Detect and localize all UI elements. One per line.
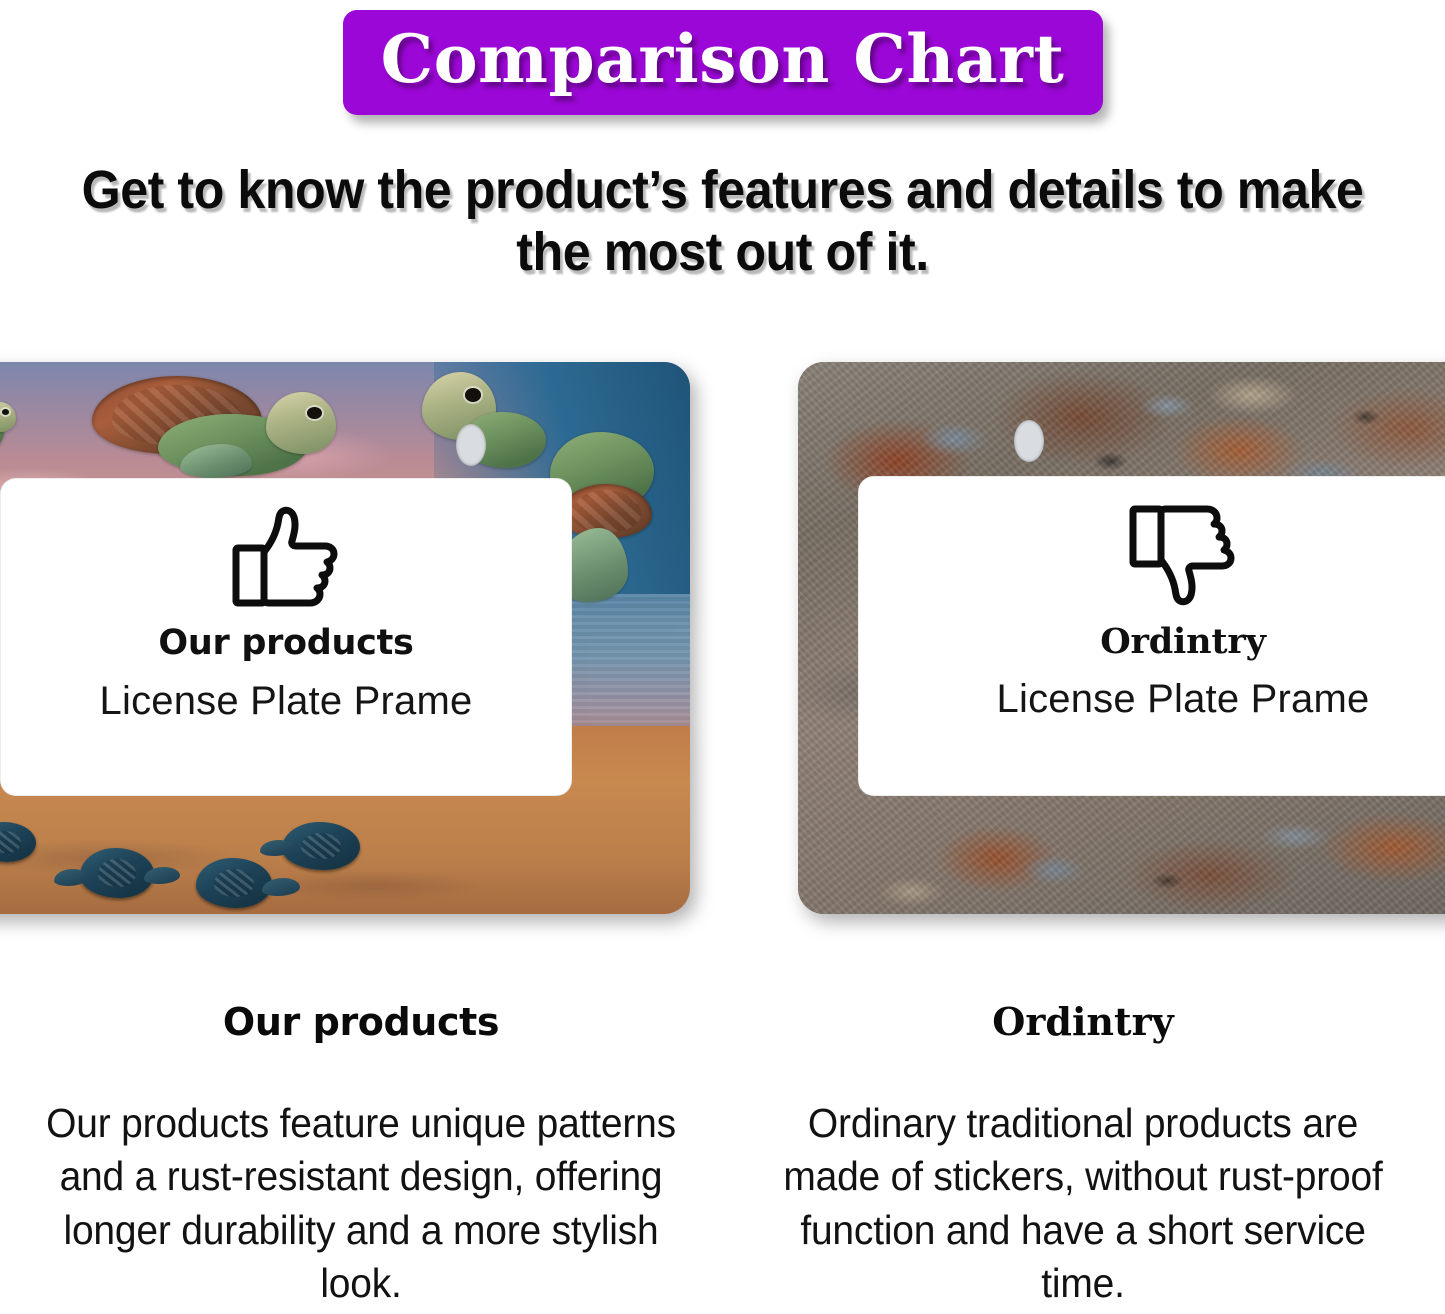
ordinary-column: Ordintry Ordinary traditional products a… [722, 975, 1444, 1314]
our-products-column: Our products Our products feature unique… [0, 975, 722, 1314]
window-subtitle-left: License Plate Prame [100, 681, 473, 721]
page-subtitle: Get to know the product’s features and d… [51, 160, 1395, 283]
product-frames-row: Our products License Plate Prame Ordintr… [0, 352, 1445, 922]
window-title-left: Our products [158, 626, 413, 661]
window-title-right: Ordintry [1100, 624, 1266, 659]
sea-turtle-left [0, 376, 18, 462]
our-product-plate-frame: Our products License Plate Prame [0, 362, 690, 914]
thumbs-up-icon [230, 504, 342, 610]
license-plate-window-left: Our products License Plate Prame [0, 478, 572, 796]
turtle-hatchling-3 [196, 858, 272, 908]
page-title: Comparison Chart [381, 26, 1065, 92]
header-banner-area: Comparison Chart [0, 10, 1445, 118]
window-subtitle-right: License Plate Prame [997, 679, 1370, 719]
our-products-heading: Our products [26, 1003, 696, 1041]
thumbs-down-icon [1127, 502, 1239, 608]
comparison-description-row: Our products Our products feature unique… [0, 975, 1445, 1314]
ordinary-description: Ordinary traditional products are made o… [765, 1097, 1402, 1310]
mounting-hole-right [1014, 420, 1044, 462]
our-products-description: Our products feature unique patterns and… [43, 1097, 680, 1310]
ordinary-heading: Ordintry [748, 1003, 1418, 1041]
turtle-hatchling-2 [80, 848, 154, 898]
comparison-chart-banner: Comparison Chart [343, 10, 1103, 115]
license-plate-window-right: Ordintry License Plate Prame [858, 476, 1445, 796]
sea-turtle-center [84, 370, 344, 478]
ordinary-product-plate-frame: Ordintry License Plate Prame [798, 362, 1445, 914]
mounting-hole-left [456, 424, 486, 466]
